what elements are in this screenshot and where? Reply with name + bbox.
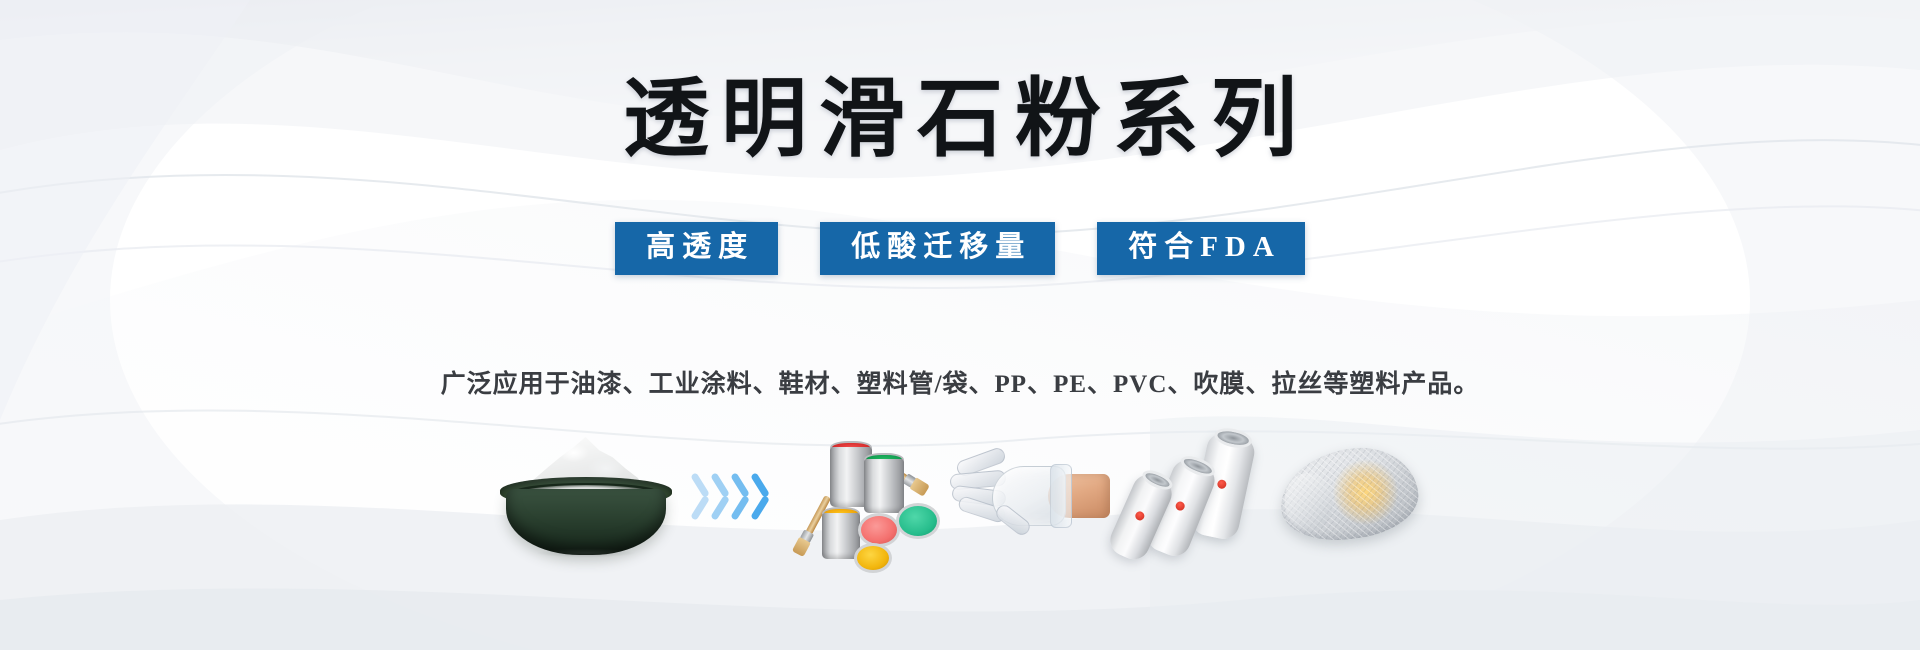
process-arrows-icon: [685, 420, 795, 570]
glove-cuff: [1050, 464, 1072, 528]
bowl-body: [506, 489, 666, 555]
bowl-ground-shadow: [520, 547, 652, 559]
badge-low-acid-migration[interactable]: 低酸迁移量: [820, 222, 1055, 275]
page-title: 透明滑石粉系列: [0, 76, 1920, 162]
paint-cans-image: [795, 420, 945, 570]
paint-lid-teal: [896, 503, 940, 539]
chevron-right-icon: [762, 472, 779, 518]
badge-high-transparency[interactable]: 高透度: [615, 222, 778, 275]
plastic-glove-hand-image: [945, 420, 1115, 570]
sole-body: [1276, 442, 1423, 546]
application-subtitle: 广泛应用于油漆、工业涂料、鞋材、塑料管/袋、PP、PE、PVC、吹膜、拉丝等塑料…: [0, 364, 1920, 400]
product-showcase-row: [0, 420, 1920, 570]
feature-badge-group: 高透度 低酸迁移量 符合FDA: [0, 222, 1920, 275]
shoe-sole-image: [1265, 420, 1435, 570]
paint-can-yellow: [822, 507, 860, 559]
plastic-film-rolls-image: [1115, 420, 1265, 570]
product-banner: 透明滑石粉系列 高透度 低酸迁移量 符合FDA 广泛应用于油漆、工业涂料、鞋材、…: [0, 0, 1920, 650]
paint-lid-pink: [858, 513, 900, 547]
badge-fda-compliant[interactable]: 符合FDA: [1097, 222, 1305, 275]
paint-can-green: [864, 453, 904, 513]
paint-lid-gold: [854, 543, 892, 573]
talc-powder-bowl-image: [485, 420, 685, 570]
